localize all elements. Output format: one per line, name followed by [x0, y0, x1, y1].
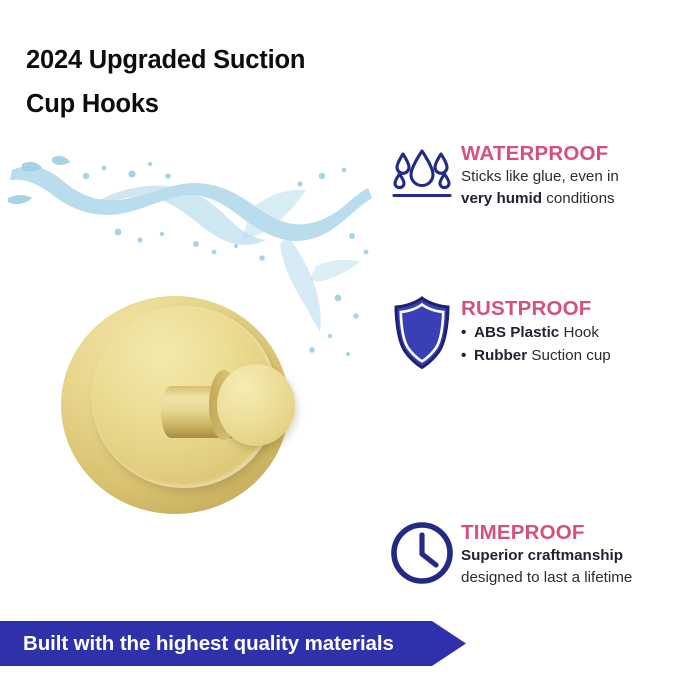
feature-list: WATERPROOF Sticks like glue, even in ver… — [383, 140, 684, 629]
suction-hook-graphic — [55, 290, 305, 525]
quality-banner-label: Built with the highest quality materials — [23, 621, 394, 666]
page-title-line-1: 2024 Upgraded Suction — [26, 38, 426, 82]
feature-waterproof-line-2: very humid conditions — [461, 188, 684, 210]
feature-timeproof-title: TIMEPROOF — [461, 521, 684, 545]
bullet-dot: • — [461, 321, 474, 344]
feature-waterproof-text: WATERPROOF Sticks like glue, even in ver… — [461, 140, 684, 209]
feature-waterproof: WATERPROOF Sticks like glue, even in ver… — [383, 140, 684, 235]
feature-rustproof-bullet-1: •ABS Plastic Hook — [461, 321, 684, 344]
feature-waterproof-title: WATERPROOF — [461, 142, 684, 166]
page-title-line-2: Cup Hooks — [26, 82, 426, 126]
hook-knob-cap — [217, 364, 295, 446]
feature-waterproof-line-1: Sticks like glue, even in — [461, 166, 684, 188]
feature-timeproof-line-1: Superior craftmanship — [461, 545, 684, 567]
bullet-dot: • — [461, 344, 474, 367]
feature-rustproof-bullet-2-rest: Suction cup — [527, 347, 611, 364]
feature-waterproof-line-2-rest: conditions — [542, 190, 615, 207]
water-drops-icon — [383, 140, 461, 204]
feature-timeproof-text: TIMEPROOF Superior craftmanship designed… — [461, 519, 684, 588]
quality-banner: Built with the highest quality materials — [0, 621, 466, 666]
product-image — [0, 140, 380, 540]
feature-timeproof: TIMEPROOF Superior craftmanship designed… — [383, 445, 684, 629]
clock-icon — [383, 519, 461, 587]
feature-rustproof-bullet-1-rest: Hook — [559, 324, 599, 341]
feature-rustproof-bullet-2: •Rubber Suction cup — [461, 344, 684, 367]
feature-waterproof-line-2-bold: very humid — [461, 190, 542, 207]
feature-rustproof-title: RUSTPROOF — [461, 297, 684, 321]
feature-rustproof-bullet-2-bold: Rubber — [474, 347, 527, 364]
shield-icon — [383, 295, 461, 371]
feature-rustproof: RUSTPROOF •ABS Plastic Hook •Rubber Suct… — [383, 235, 684, 445]
feature-rustproof-text: RUSTPROOF •ABS Plastic Hook •Rubber Suct… — [461, 295, 684, 367]
page-title: 2024 Upgraded Suction Cup Hooks — [26, 38, 426, 126]
feature-timeproof-line-2: designed to last a lifetime — [461, 567, 684, 589]
feature-rustproof-bullet-1-bold: ABS Plastic — [474, 324, 559, 341]
